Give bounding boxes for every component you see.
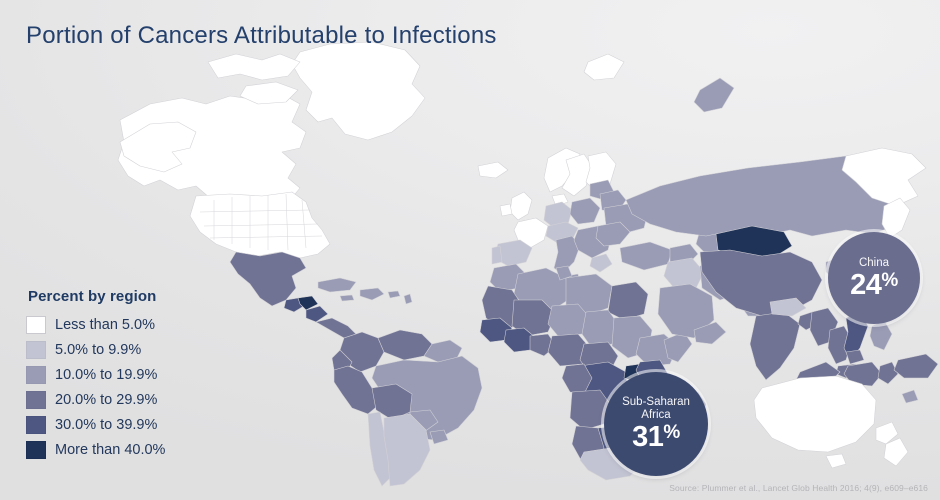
region-papua-new-guinea: [894, 354, 938, 378]
region-south-america: [332, 330, 482, 486]
region-mexico: [230, 252, 306, 306]
region-puerto-rico: [388, 291, 400, 298]
region-jamaica: [340, 295, 354, 301]
callout-value: 31%: [632, 422, 680, 452]
region-costa-rica-panama: [316, 318, 356, 338]
region-cambodia: [846, 350, 864, 364]
legend-label: Less than 5.0%: [55, 317, 155, 333]
region-united-kingdom: [510, 192, 532, 220]
region-europe: [478, 148, 648, 284]
callout-percent-sign: %: [663, 422, 679, 443]
region-fiji: [902, 390, 918, 403]
legend-swatch: [26, 316, 46, 334]
legend-label: 20.0% to 29.9%: [55, 392, 157, 408]
callout-percent-sign: %: [881, 270, 897, 291]
legend-label: 10.0% to 19.9%: [55, 367, 157, 383]
region-philippines: [870, 320, 892, 350]
legend-item: 30.0% to 39.9%: [26, 412, 165, 437]
legend-item: More than 40.0%: [26, 437, 165, 462]
callout-region-label-line2: Africa: [641, 409, 670, 422]
region-iceland: [478, 162, 508, 178]
region-hispaniola: [360, 288, 384, 300]
callout-number: 24: [850, 269, 881, 301]
legend-item: 20.0% to 29.9%: [26, 387, 165, 412]
region-canada-arctic-isles: [208, 54, 300, 80]
callout-sub-saharan-africa: Sub-Saharan Africa 31%: [604, 372, 708, 476]
callout-number: 31: [632, 421, 663, 453]
callout-region-label: Sub-Saharan: [622, 396, 690, 409]
infographic-root: Portion of Cancers Attributable to Infec…: [0, 0, 940, 500]
region-sulawesi: [878, 362, 898, 384]
legend-item: Less than 5.0%: [26, 312, 165, 337]
legend-label: More than 40.0%: [55, 442, 165, 458]
legend: Percent by region Less than 5.0% 5.0% to…: [26, 288, 165, 462]
region-venezuela: [378, 330, 432, 360]
legend-swatch: [26, 391, 46, 409]
region-tasmania: [826, 454, 846, 468]
region-novaya-zemlya: [694, 78, 734, 112]
region-ireland: [500, 204, 512, 216]
legend-item: 5.0% to 9.9%: [26, 337, 165, 362]
legend-swatch: [26, 366, 46, 384]
legend-swatch: [26, 441, 46, 459]
region-svalbard: [584, 54, 624, 80]
region-cuba: [318, 278, 356, 292]
source-citation: Source: Plummer et al., Lancet Glob Heal…: [669, 483, 928, 493]
page-title: Portion of Cancers Attributable to Infec…: [26, 22, 497, 50]
legend-label: 30.0% to 39.9%: [55, 417, 157, 433]
region-turkey: [620, 242, 672, 270]
legend-item: 10.0% to 19.9%: [26, 362, 165, 387]
callout-value: 24%: [850, 270, 898, 300]
legend-title: Percent by region: [28, 288, 165, 305]
legend-swatch: [26, 341, 46, 359]
legend-swatch: [26, 416, 46, 434]
region-portugal: [492, 246, 502, 264]
region-greenland: [292, 42, 425, 140]
region-egypt: [608, 282, 648, 320]
callout-region-label: China: [859, 257, 889, 270]
region-poland: [570, 198, 600, 224]
region-lesser-antilles: [404, 294, 412, 304]
callout-china: China 24%: [828, 232, 920, 324]
region-australia: [754, 376, 876, 452]
legend-label: 5.0% to 9.9%: [55, 342, 141, 358]
region-india: [750, 312, 800, 380]
